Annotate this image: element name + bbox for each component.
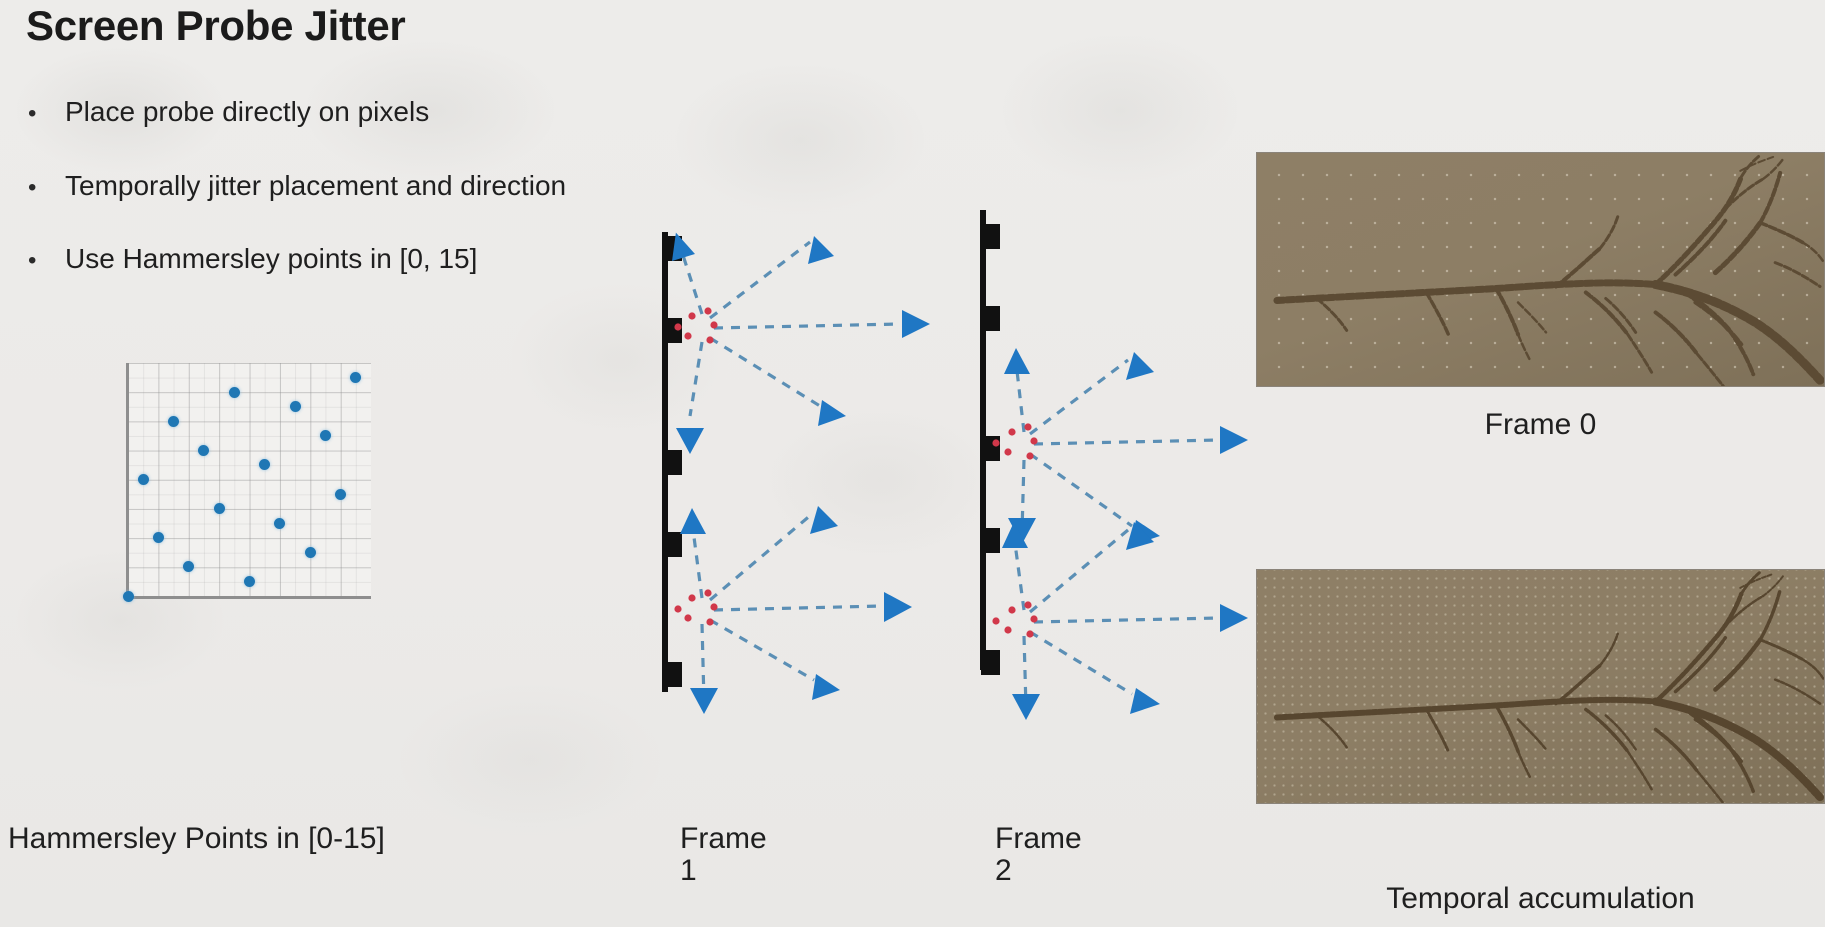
probe-rays (662, 232, 952, 692)
frame-2-label: Frame 2 (995, 823, 1082, 888)
render-caption-temporal-accumulation: Temporal accumulation (1256, 882, 1825, 916)
scatter-point (214, 503, 225, 514)
hammersley-scatter-chart (118, 363, 371, 606)
tree-branches-illustration (1257, 570, 1824, 804)
page-title: Screen Probe Jitter (26, 2, 405, 50)
frame-2-diagram (980, 210, 1270, 670)
probe-rays (980, 210, 1270, 670)
tree-branches-illustration (1257, 153, 1824, 387)
scatter-point (138, 474, 149, 485)
render-image-frame-0 (1256, 152, 1825, 387)
scatter-point (290, 401, 301, 412)
y-axis-line (126, 363, 129, 599)
bullet-marker-icon: • (28, 176, 46, 200)
scatter-point (168, 416, 179, 427)
bullet-text: Temporally jitter placement and directio… (65, 170, 566, 202)
bullet-text: Use Hammersley points in [0, 15] (65, 243, 477, 275)
scatter-point (244, 576, 255, 587)
hammersley-caption: Hammersley Points in [0-15] (8, 822, 385, 856)
bullet-item-1: • Place probe directly on pixels (28, 96, 429, 128)
bullet-item-2: • Temporally jitter placement and direct… (28, 170, 566, 202)
scatter-point (335, 489, 346, 500)
scatter-point (305, 547, 316, 558)
scatter-point (123, 591, 134, 602)
x-axis-line (126, 596, 371, 599)
bullet-marker-icon: • (28, 102, 46, 126)
bullet-item-3: • Use Hammersley points in [0, 15] (28, 243, 477, 275)
scatter-point (229, 387, 240, 398)
bullet-text: Place probe directly on pixels (65, 96, 429, 128)
slide-canvas: Screen Probe Jitter • Place probe direct… (0, 0, 1825, 927)
render-caption-frame-0: Frame 0 (1256, 408, 1825, 442)
frame-1-label: Frame 1 (680, 823, 767, 888)
render-image-temporal-accumulation (1256, 569, 1825, 804)
frame-1-diagram (662, 232, 952, 692)
scatter-plot-grid (128, 363, 371, 596)
bullet-marker-icon: • (28, 249, 46, 273)
